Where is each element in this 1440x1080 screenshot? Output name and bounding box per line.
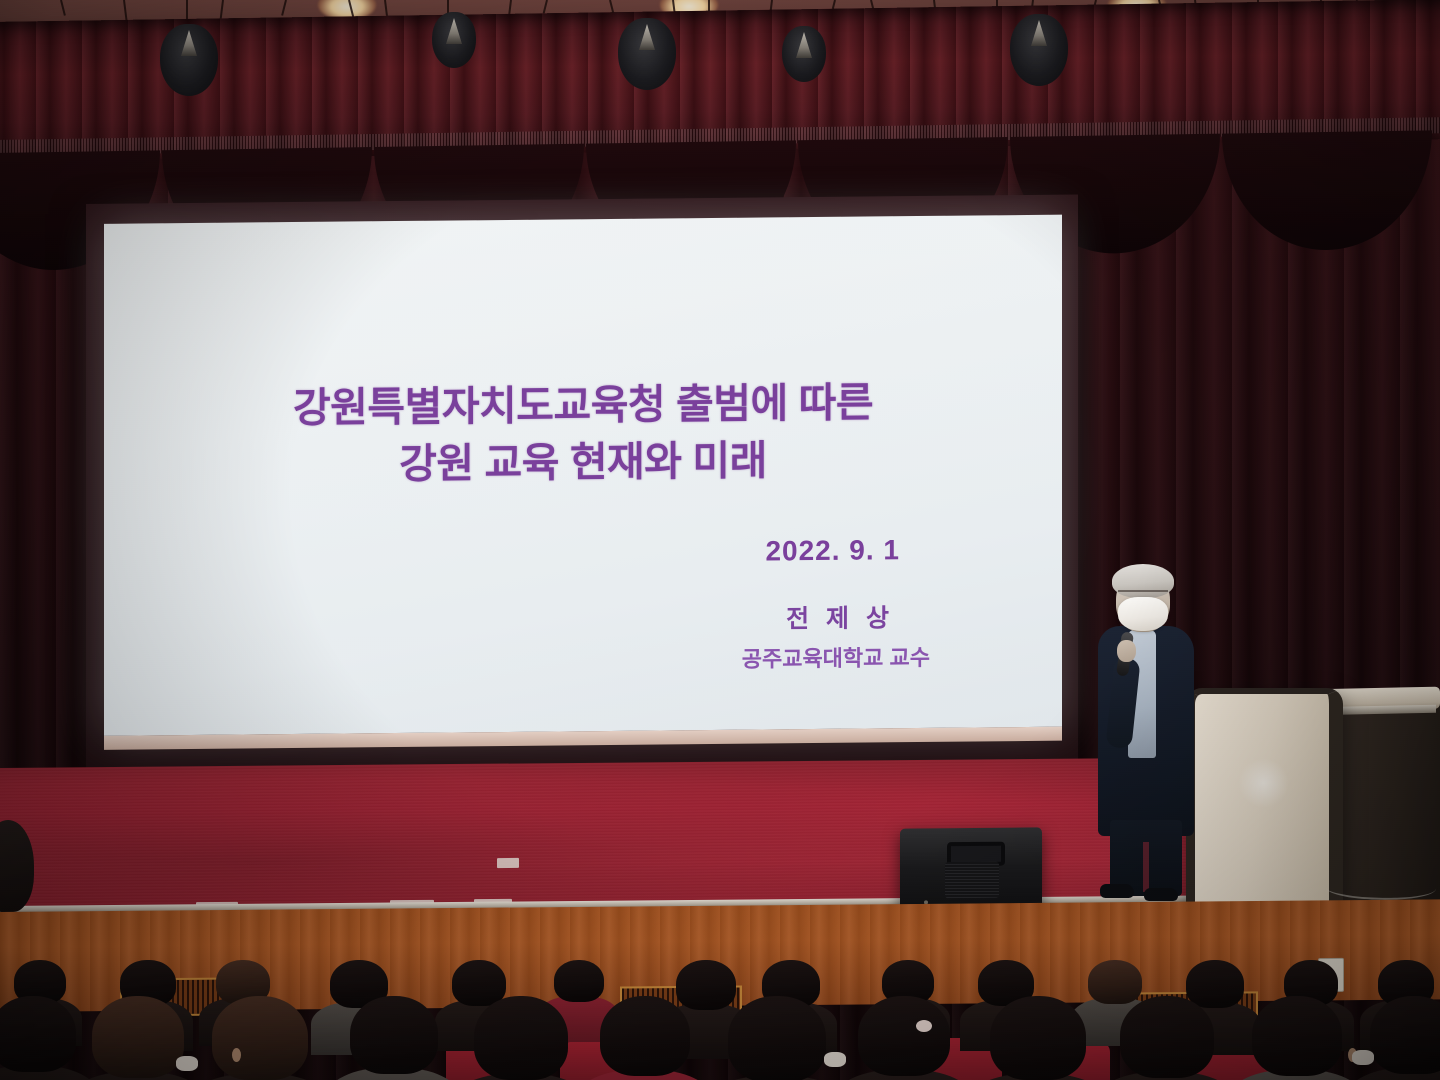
audience-head bbox=[990, 996, 1086, 1080]
audience-head bbox=[1252, 996, 1342, 1076]
stage-light-lens bbox=[181, 30, 197, 56]
audience-seating bbox=[0, 952, 1440, 1080]
presenter-shoe-left bbox=[1100, 884, 1134, 898]
stage-light-fixture bbox=[618, 18, 676, 90]
audience-head bbox=[474, 996, 568, 1080]
face-mask-icon bbox=[1118, 597, 1168, 631]
slide-date: 2022. 9. 1 bbox=[765, 534, 900, 567]
hair-tie bbox=[916, 1020, 932, 1032]
audience-face-mask bbox=[1352, 1050, 1374, 1065]
projection-screen-frame: 강원특별자치도교육청 출범에 따른 강원 교육 현재와 미래 2022. 9. … bbox=[86, 194, 1078, 772]
audience-head bbox=[600, 996, 690, 1076]
slide-title-line2: 강원 교육 현재와 미래 bbox=[104, 429, 1062, 495]
audience-head bbox=[212, 996, 308, 1080]
audience-head bbox=[1186, 960, 1244, 1008]
audience-head bbox=[728, 996, 826, 1080]
audience-head bbox=[554, 960, 604, 1002]
audience-head bbox=[1120, 996, 1214, 1078]
monitor-grille bbox=[945, 862, 999, 898]
slide-presenter-affiliation: 공주교육대학교 교수 bbox=[742, 640, 930, 674]
auditorium-scene: 강원특별자치도교육청 출범에 따른 강원 교육 현재와 미래 2022. 9. … bbox=[0, 0, 1440, 1080]
audience-head bbox=[1088, 960, 1142, 1004]
presenter-hand bbox=[1117, 640, 1136, 662]
presenter-leg-gap bbox=[1143, 842, 1149, 892]
slide-presenter-name: 전 제 상 bbox=[786, 598, 894, 635]
stage-light-fixture bbox=[160, 24, 218, 96]
audience-head bbox=[0, 996, 76, 1072]
stage-light-fixture bbox=[1010, 14, 1068, 86]
stage-light-lens bbox=[1031, 20, 1047, 46]
audience-head bbox=[1370, 996, 1440, 1074]
stage-light-fixture bbox=[432, 12, 476, 68]
audience-face-mask bbox=[176, 1056, 198, 1071]
stage-light-lens bbox=[796, 32, 812, 58]
presenter-shoe-right bbox=[1144, 888, 1178, 901]
slide-title: 강원특별자치도교육청 출범에 따른 강원 교육 현재와 미래 bbox=[104, 373, 1062, 495]
audience-head bbox=[858, 996, 950, 1076]
presentation-slide: 강원특별자치도교육청 출범에 따른 강원 교육 현재와 미래 2022. 9. … bbox=[104, 215, 1062, 736]
presenter bbox=[1088, 562, 1218, 900]
audience-face-mask bbox=[824, 1052, 846, 1067]
curtain-scallop bbox=[1222, 130, 1432, 251]
stage-light-lens bbox=[446, 18, 462, 44]
audience-ear bbox=[232, 1048, 241, 1062]
audience-head bbox=[676, 960, 736, 1010]
audience-head bbox=[92, 996, 184, 1078]
slide-title-line1: 강원특별자치도교육청 출범에 따른 bbox=[293, 379, 873, 431]
audience-head bbox=[350, 996, 438, 1074]
audience-head bbox=[452, 960, 506, 1006]
projection-screen-surface: 강원특별자치도교육청 출범에 따른 강원 교육 현재와 미래 2022. 9. … bbox=[104, 215, 1062, 736]
stage-light-fixture bbox=[782, 26, 826, 82]
stage-tape-mark bbox=[497, 858, 519, 868]
stage-light-lens bbox=[639, 24, 655, 50]
